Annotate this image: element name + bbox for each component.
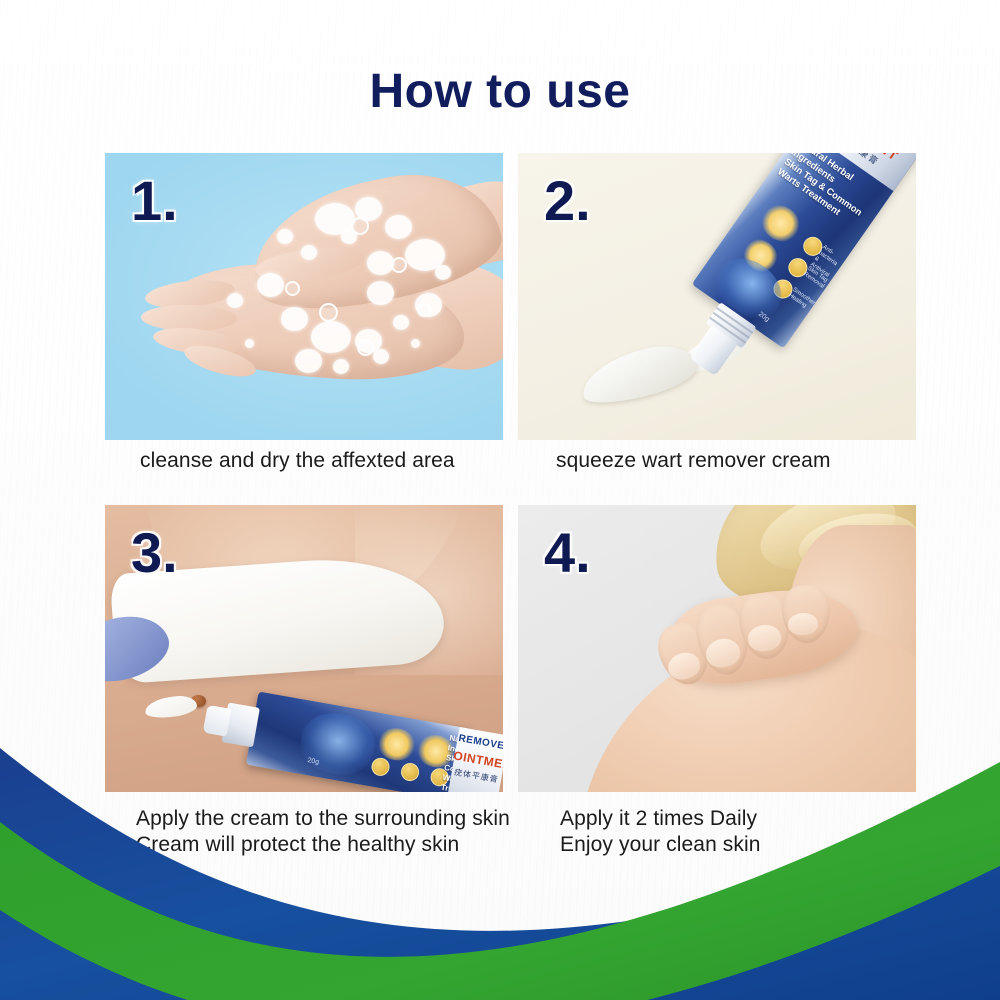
step-number-4: 4. bbox=[544, 525, 591, 581]
foam-bubble bbox=[391, 257, 407, 273]
foam-bubble bbox=[351, 217, 369, 235]
foam-blob bbox=[311, 321, 351, 353]
step-panel-2: REMOVER OINTMENT 疣体平康膏 Natural Herbal In… bbox=[518, 153, 916, 440]
step-number-1: 1. bbox=[131, 173, 178, 229]
foam-blob bbox=[435, 265, 451, 280]
foam-blob bbox=[281, 307, 308, 331]
foam-blob bbox=[295, 349, 322, 373]
step-panel-1: 1. bbox=[105, 153, 503, 440]
foam-blob bbox=[245, 339, 254, 348]
foam-blob bbox=[227, 293, 243, 308]
foam-bubble bbox=[417, 303, 431, 317]
foam-blob bbox=[301, 245, 317, 260]
foam-blob bbox=[333, 359, 349, 374]
foam-bubble bbox=[357, 339, 374, 356]
foam-blob bbox=[393, 315, 409, 330]
step-caption-1: cleanse and dry the affexted area bbox=[140, 448, 520, 474]
foam-bubble bbox=[319, 303, 338, 322]
foam-blob bbox=[277, 229, 293, 244]
foam-blob bbox=[373, 349, 389, 364]
foam-blob bbox=[257, 273, 284, 297]
step-number-3: 3. bbox=[131, 525, 178, 581]
foam-blob bbox=[367, 281, 394, 305]
infographic-page: How to use bbox=[0, 0, 1000, 1000]
foam-blob bbox=[385, 215, 412, 239]
bottom-swoosh-decoration bbox=[0, 700, 1000, 1000]
step-number-2: 2. bbox=[544, 173, 591, 229]
foam-blob bbox=[411, 339, 420, 348]
benefit-icon-label: Smoother Healing bbox=[787, 287, 815, 312]
page-title: How to use bbox=[0, 64, 1000, 119]
step-caption-2: squeeze wart remover cream bbox=[556, 448, 936, 474]
foam-blob bbox=[367, 251, 394, 275]
foam-bubble bbox=[285, 281, 300, 296]
